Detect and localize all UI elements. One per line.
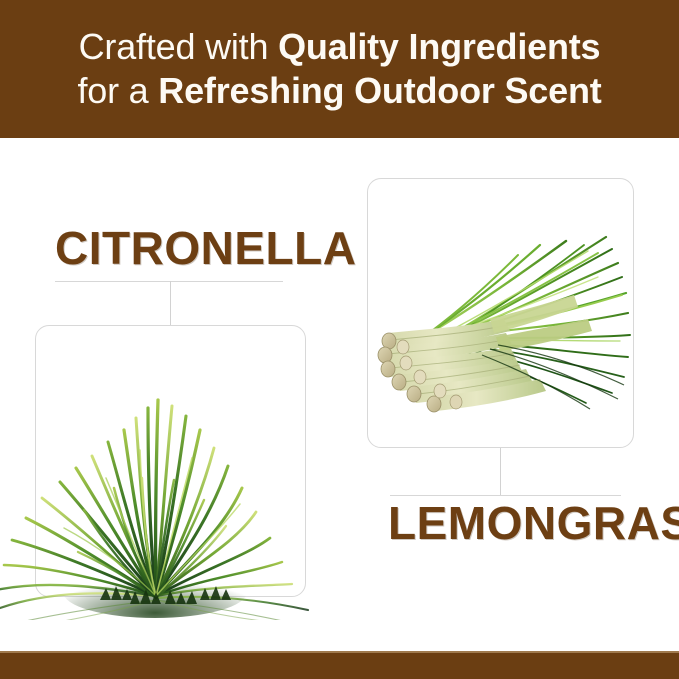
header-line-1-light: Crafted with (79, 26, 278, 67)
lemongrass-photo-card (367, 178, 634, 448)
header-line-2-light: for a (77, 70, 158, 111)
header-line-2: for a Refreshing Outdoor Scent (77, 70, 601, 112)
lemongrass-label: LEMONGRASS (388, 497, 679, 549)
header-line-2-heavy: Refreshing Outdoor Scent (158, 70, 601, 111)
product-infographic: Crafted with Quality Ingredients for a R… (0, 0, 679, 679)
lemongrass-overline (390, 495, 621, 496)
header-line-1-heavy: Quality Ingredients (278, 26, 600, 67)
citronella-photo-card (35, 325, 306, 597)
citronella-underline (55, 281, 283, 282)
header-line-1: Crafted with Quality Ingredients (79, 26, 601, 68)
citronella-label: CITRONELLA (55, 222, 356, 274)
citronella-connector-line (170, 281, 171, 326)
header-banner: Crafted with Quality Ingredients for a R… (0, 0, 679, 138)
footer-banner (0, 651, 679, 679)
lemongrass-connector-line (500, 448, 501, 495)
